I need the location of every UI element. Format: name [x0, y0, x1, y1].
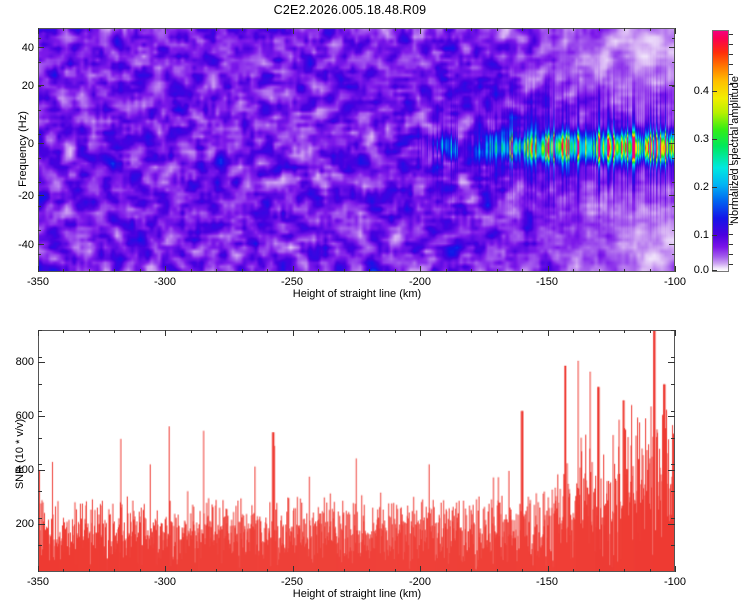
cb-tick-1	[712, 139, 717, 140]
snr-xtick-minor	[497, 569, 498, 572]
spec-ytick-minor	[38, 230, 41, 231]
spec-ytick-minor	[38, 182, 41, 183]
snr-ytick-minor-right	[671, 518, 675, 519]
snr-xtick-minor	[573, 569, 574, 572]
snr-ytick-minor-right	[671, 411, 675, 412]
snr-xtick-minor-top	[191, 330, 192, 333]
snr-xtick-minor-top	[242, 330, 243, 333]
snr-xtick-minor-top	[522, 330, 523, 333]
snr-ytick-right-1	[668, 416, 675, 417]
spec-xtick-minor	[318, 269, 319, 272]
snr-xtick-minor-top	[573, 330, 574, 333]
spec-xtick-minor-top	[165, 28, 166, 31]
spec-xtick-minor-top	[446, 28, 447, 31]
spec-ytick-minor	[38, 134, 41, 135]
spec-xtick-minor-top	[548, 28, 549, 31]
spec-xtick-minor-top	[369, 28, 370, 31]
spec-xtick-minor-top	[140, 28, 141, 31]
spec-xtick-minor	[267, 269, 268, 272]
snr-xtick-minor	[38, 569, 39, 572]
spec-xtick-minor	[165, 269, 166, 272]
spec-xtick-minor-top	[471, 28, 472, 31]
snr-xtick-minor	[267, 569, 268, 572]
spec-yticklabel-40: 40	[0, 42, 34, 54]
snr-xtick-minor-top	[420, 330, 421, 333]
spec-ytick-minor	[38, 158, 41, 159]
spec-ytick-minor	[38, 110, 41, 111]
spec-ytick-right-2	[669, 143, 675, 144]
snr-ytick-2	[38, 470, 45, 471]
snr-xtick-minor	[548, 569, 549, 572]
snr-ytick-minor	[38, 545, 42, 546]
spec-xticklabel-3: -200	[390, 276, 450, 288]
snr-xtick-minor-top	[624, 330, 625, 333]
snr-xtick-minor	[395, 569, 396, 572]
snr-xtick-minor-top	[165, 330, 166, 333]
snr-x-axis-label: Height of straight line (km)	[232, 588, 482, 600]
snr-xtick-minor	[114, 569, 115, 572]
spec-ytick-2	[38, 143, 44, 144]
spec-ytick-right-4	[669, 244, 675, 245]
spec-xtick-minor-top	[624, 28, 625, 31]
snr-xtick-minor	[140, 569, 141, 572]
snr-y-axis-label: SNR (10 * v/v)	[14, 394, 26, 514]
snr-xticklabel-4: -150	[517, 576, 577, 588]
spec-xtick-minor-top	[522, 28, 523, 31]
snr-ytick-minor-right	[671, 384, 675, 385]
spec-ytick-0	[38, 47, 44, 48]
snr-xticklabel-5: -100	[645, 576, 705, 588]
cb-tick-minor	[729, 264, 733, 265]
spec-xtick-minor	[344, 269, 345, 272]
spec-ytick-right-3	[669, 195, 675, 196]
snr-xtick-minor-top	[497, 330, 498, 333]
snr-xtick-minor-top	[89, 330, 90, 333]
spec-xtick-minor-top	[344, 28, 345, 31]
snr-xtick-minor-top	[318, 330, 319, 333]
snr-ytick-right-2	[668, 470, 675, 471]
spectrogram-x-axis-label: Height of straight line (km)	[232, 288, 482, 300]
snr-xticklabel-1: -300	[135, 576, 195, 588]
spec-xtick-minor-top	[242, 28, 243, 31]
spec-xticklabel-2: -250	[262, 276, 322, 288]
snr-ytick-minor	[38, 411, 42, 412]
spec-xtick-minor-top	[599, 28, 600, 31]
spec-xtick-minor	[420, 269, 421, 272]
colorbar-ticklabel-0.4: 0.4	[679, 85, 709, 97]
spec-xtick-minor-top	[191, 28, 192, 31]
spec-xtick-minor-top	[267, 28, 268, 31]
snr-xtick-minor	[369, 569, 370, 572]
spec-xtick-minor	[471, 269, 472, 272]
snr-ytick-minor	[38, 464, 42, 465]
spectrogram-y-axis-label: Frequency (Hz)	[17, 94, 29, 204]
snr-xtick-minor	[318, 569, 319, 572]
snr-xtick-minor	[471, 569, 472, 572]
snr-xtick-minor	[599, 569, 600, 572]
spec-xtick-minor-top	[675, 28, 676, 31]
spec-xtick-minor	[675, 269, 676, 272]
colorbar-ticklabel-0.2: 0.2	[679, 181, 709, 193]
snr-ytick-minor-right	[671, 464, 675, 465]
snr-ytick-minor-right	[671, 438, 675, 439]
snr-xtick-minor-top	[675, 330, 676, 333]
snr-xtick-minor-top	[216, 330, 217, 333]
spec-xtick-minor	[216, 269, 217, 272]
spec-ytick-minor-right	[672, 86, 675, 87]
spec-xtick-minor-top	[318, 28, 319, 31]
cb-tick-minor	[729, 54, 733, 55]
snr-xtick-minor-top	[267, 330, 268, 333]
spec-xtick-minor	[395, 269, 396, 272]
spec-yticklabel-20: 20	[0, 80, 34, 92]
spec-xtick-minor-top	[114, 28, 115, 31]
spec-xtick-minor	[522, 269, 523, 272]
spec-ytick-minor-right	[672, 134, 675, 135]
snr-ytick-0	[38, 362, 45, 363]
cb-tick-4	[712, 270, 717, 271]
spectrogram-image	[39, 29, 674, 271]
snr-xtick-minor-top	[548, 330, 549, 333]
spec-ytick-minor-right	[672, 182, 675, 183]
snr-xtick-minor-top	[471, 330, 472, 333]
snr-xtick-minor	[650, 569, 651, 572]
snr-ytick-3	[38, 524, 45, 525]
snr-xtick-minor	[89, 569, 90, 572]
spec-ytick-minor-right	[672, 110, 675, 111]
spec-xticklabel-1: -300	[135, 276, 195, 288]
spec-ytick-minor-right	[672, 38, 675, 39]
snr-yticklabel-200: 200	[0, 518, 34, 530]
snr-ytick-minor-right	[671, 491, 675, 492]
spec-ytick-minor	[38, 86, 41, 87]
spec-ytick-minor-right	[672, 254, 675, 255]
spec-ytick-minor-right	[672, 158, 675, 159]
snr-xtick-minor-top	[650, 330, 651, 333]
snr-ytick-minor-right	[671, 357, 675, 358]
snr-xtick-minor-top	[114, 330, 115, 333]
spec-xtick-minor	[140, 269, 141, 272]
spec-ytick-minor	[38, 254, 41, 255]
colorbar-ticklabel-0.0: 0.0	[679, 264, 709, 276]
page-title: C2E2.2026.005.18.48.R09	[0, 3, 700, 17]
spec-ytick-4	[38, 244, 44, 245]
snr-ytick-minor	[38, 384, 42, 385]
spec-xtick-minor-top	[63, 28, 64, 31]
snr-ytick-minor-right	[671, 330, 675, 331]
spec-xtick-minor	[242, 269, 243, 272]
snr-xticklabel-3: -200	[390, 576, 450, 588]
spec-xtick-minor-top	[497, 28, 498, 31]
snr-ytick-minor-right	[671, 545, 675, 546]
snr-xtick-minor	[624, 569, 625, 572]
spec-ytick-3	[38, 195, 44, 196]
snr-xtick-minor	[344, 569, 345, 572]
snr-xtick-minor-top	[293, 330, 294, 333]
snr-xtick-minor	[675, 569, 676, 572]
spec-xtick-minor-top	[395, 28, 396, 31]
spec-ytick-minor-right	[672, 206, 675, 207]
cb-tick-2	[712, 187, 717, 188]
spec-xtick-minor	[38, 269, 39, 272]
spec-xtick-minor	[446, 269, 447, 272]
snr-xtick-minor	[446, 569, 447, 572]
snr-xtick-minor	[420, 569, 421, 572]
spec-xtick-minor	[624, 269, 625, 272]
spec-ytick-minor	[38, 62, 41, 63]
spec-xtick-minor	[293, 269, 294, 272]
snr-ytick-minor	[38, 438, 42, 439]
snr-ytick-1	[38, 416, 45, 417]
spec-xtick-minor	[114, 269, 115, 272]
snr-yticklabel-800: 800	[0, 356, 34, 368]
spec-xticklabel-4: -150	[517, 276, 577, 288]
spec-ytick-right-0	[669, 47, 675, 48]
cb-tick-0	[712, 91, 717, 92]
snr-xticklabel-0: -350	[8, 576, 68, 588]
spec-ytick-minor-right	[672, 62, 675, 63]
figure-root: C2E2.2026.005.18.48.R09 -350 -300 -250 -…	[0, 0, 750, 600]
spec-xticklabel-0: -350	[8, 276, 68, 288]
snr-xtick-minor-top	[344, 330, 345, 333]
colorbar-ticklabel-0.1: 0.1	[679, 229, 709, 241]
snr-xtick-minor	[242, 569, 243, 572]
cb-tick-3	[712, 235, 717, 236]
cb-tick-minor	[729, 44, 733, 45]
snr-xtick-minor-top	[599, 330, 600, 333]
spec-xtick-minor-top	[216, 28, 217, 31]
snr-ytick-minor	[38, 491, 42, 492]
spectrogram-panel	[38, 28, 675, 272]
snr-ytick-right-0	[668, 362, 675, 363]
spec-xtick-minor	[548, 269, 549, 272]
snr-ytick-minor	[38, 330, 42, 331]
spec-xtick-minor-top	[293, 28, 294, 31]
snr-xtick-minor-top	[395, 330, 396, 333]
colorbar-title: Normalized spectral amplitude	[729, 65, 741, 235]
snr-xtick-minor	[191, 569, 192, 572]
spec-xtick-minor	[369, 269, 370, 272]
snr-panel	[38, 330, 675, 572]
snr-xtick-minor	[293, 569, 294, 572]
spec-xtick-minor-top	[420, 28, 421, 31]
snr-trace	[39, 331, 674, 571]
snr-xtick-minor-top	[446, 330, 447, 333]
spec-xtick-minor	[497, 269, 498, 272]
spec-xtick-minor-top	[573, 28, 574, 31]
cb-tick-minor	[729, 244, 733, 245]
spec-xtick-minor	[650, 269, 651, 272]
snr-xtick-minor-top	[63, 330, 64, 333]
spec-xtick-minor-top	[38, 28, 39, 31]
spec-xtick-minor	[573, 269, 574, 272]
spec-ytick-minor	[38, 206, 41, 207]
snr-xtick-minor	[165, 569, 166, 572]
spec-xtick-minor	[599, 269, 600, 272]
cb-tick-minor	[729, 34, 733, 35]
spec-yticklabel-m40: -40	[0, 239, 34, 251]
spec-ytick-minor	[38, 38, 41, 39]
snr-xticklabel-2: -250	[262, 576, 322, 588]
snr-ytick-right-3	[668, 524, 675, 525]
cb-tick-minor	[729, 254, 733, 255]
snr-xtick-minor-top	[369, 330, 370, 333]
snr-ytick-minor	[38, 357, 42, 358]
snr-xtick-minor-top	[140, 330, 141, 333]
spec-xtick-minor-top	[89, 28, 90, 31]
snr-xtick-minor	[63, 569, 64, 572]
spec-xtick-minor-top	[650, 28, 651, 31]
spec-xtick-minor	[63, 269, 64, 272]
colorbar-ticklabel-0.3: 0.3	[679, 133, 709, 145]
spec-xticklabel-5: -100	[645, 276, 705, 288]
snr-ytick-minor	[38, 518, 42, 519]
spec-xtick-minor	[89, 269, 90, 272]
snr-xtick-minor	[522, 569, 523, 572]
spec-xtick-minor	[191, 269, 192, 272]
spec-ytick-minor-right	[672, 230, 675, 231]
snr-xtick-minor	[216, 569, 217, 572]
